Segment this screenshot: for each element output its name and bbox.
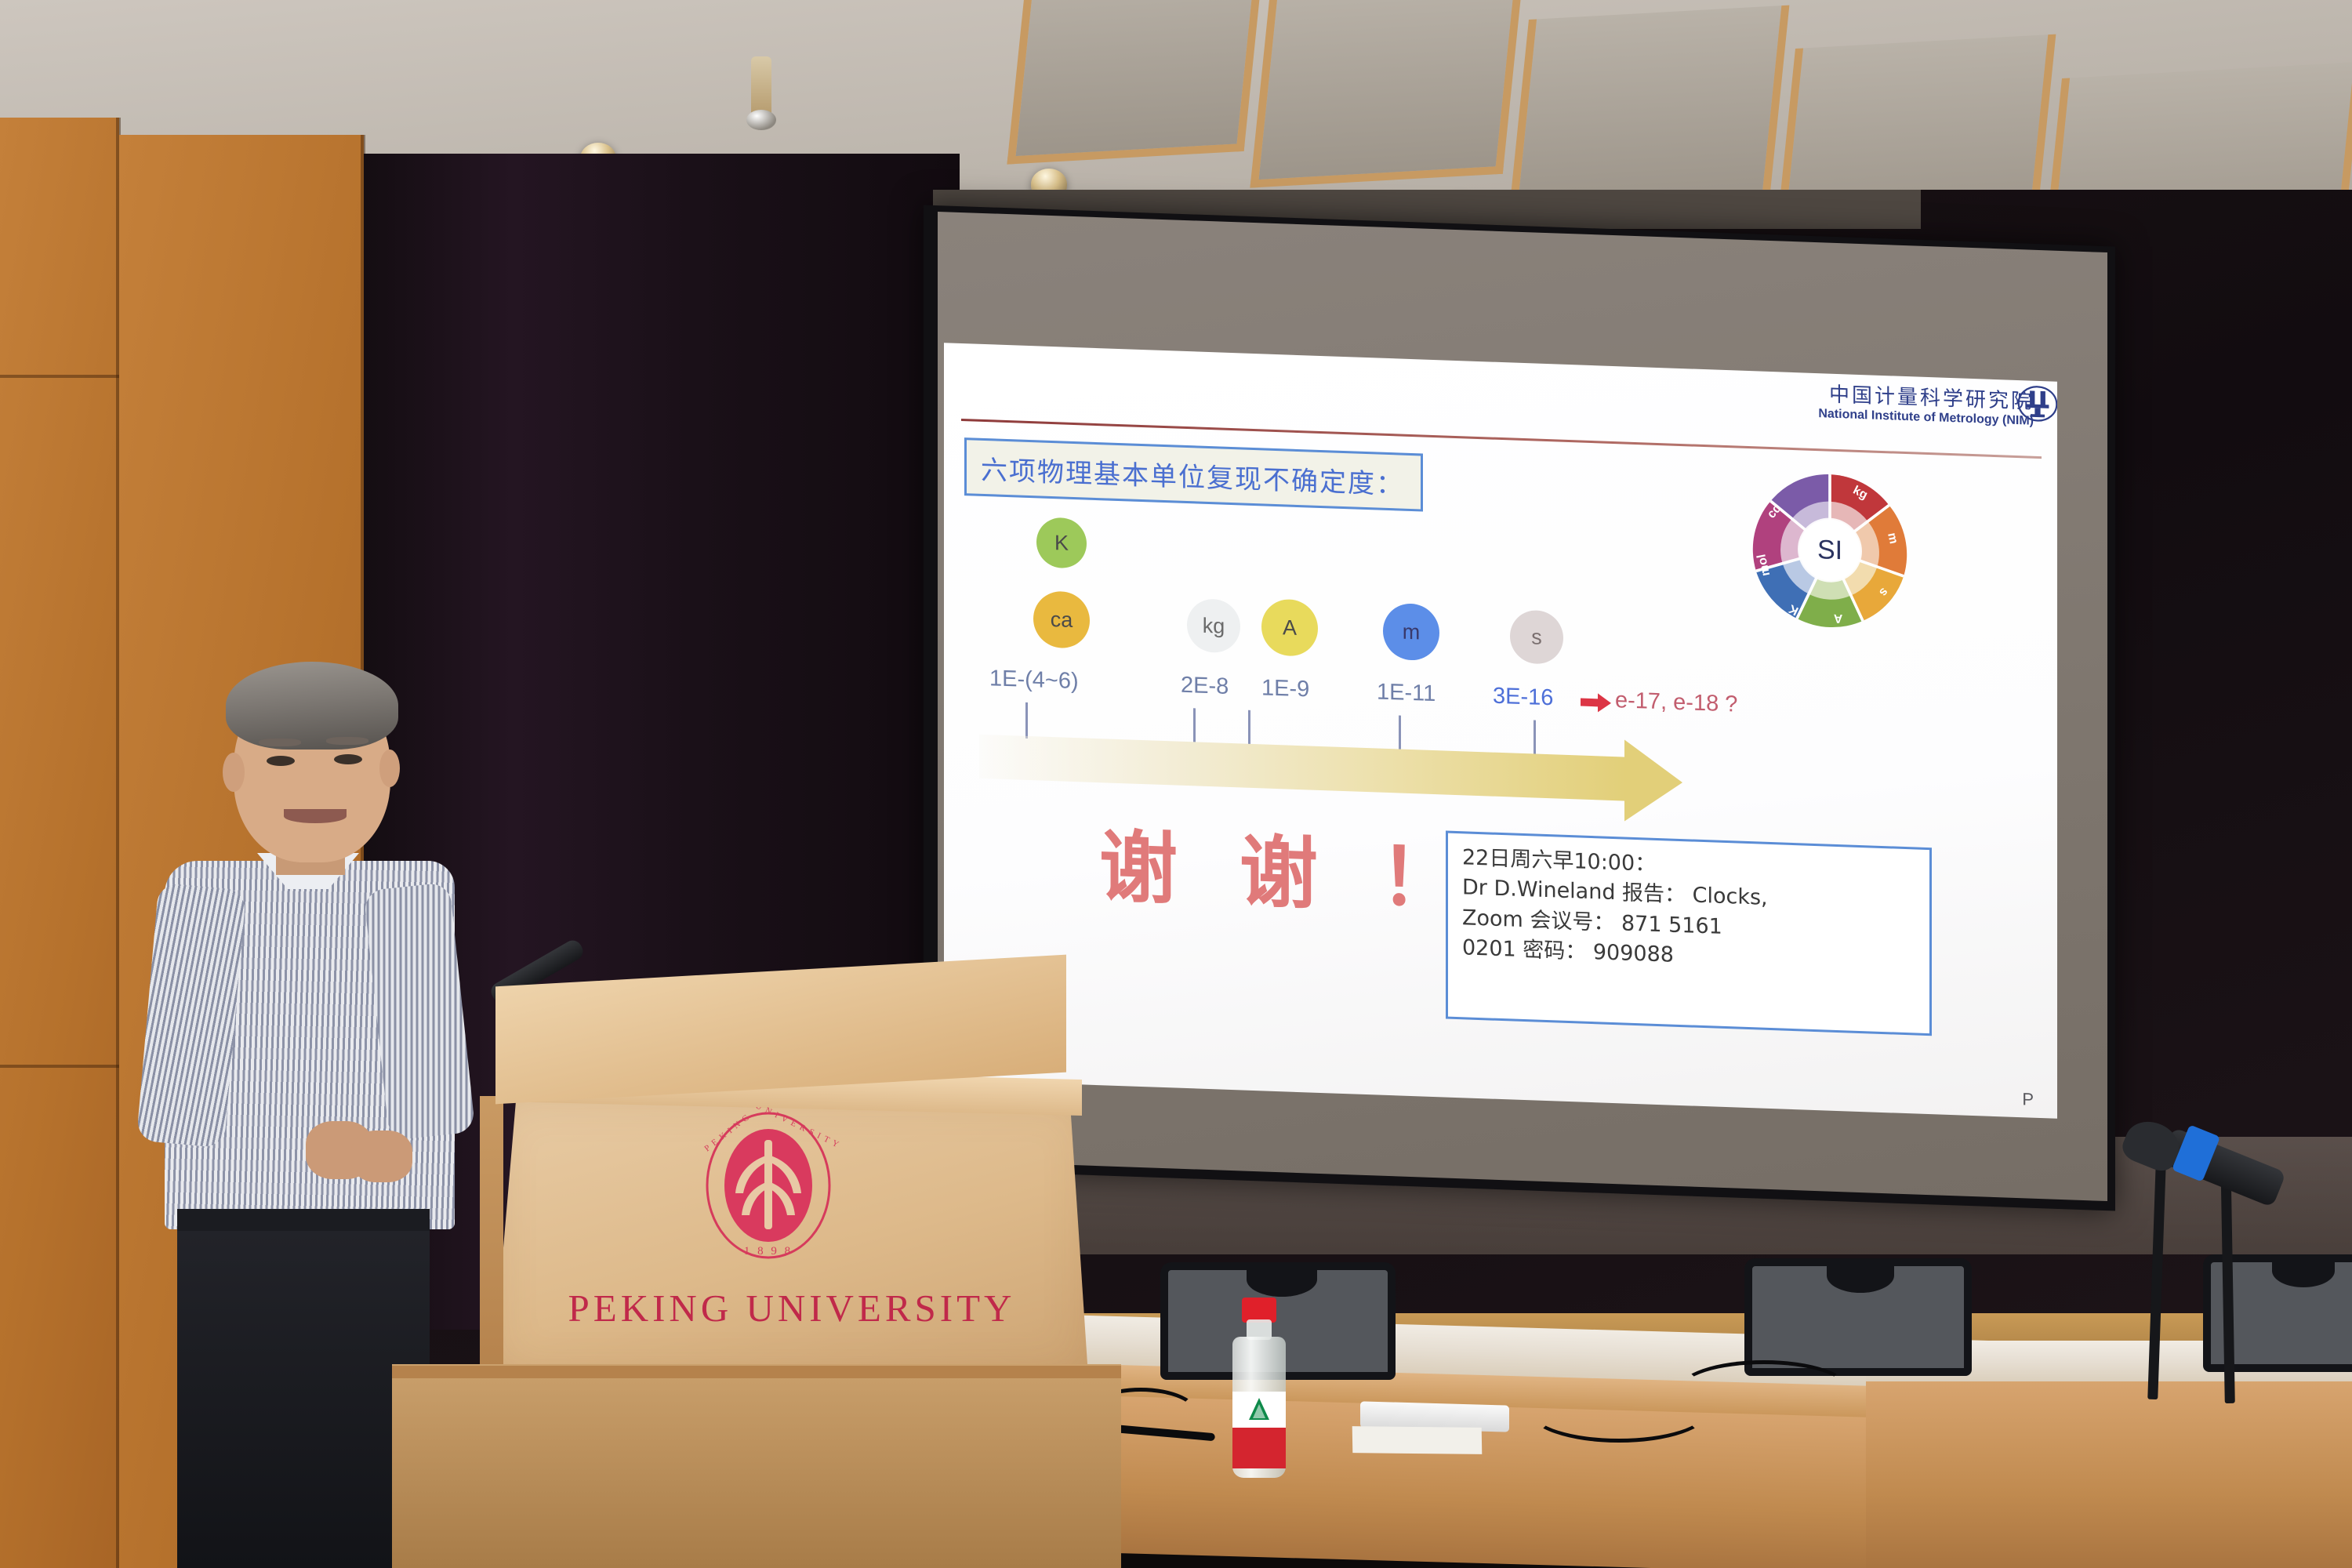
presenter-ear bbox=[223, 753, 245, 792]
slide-title-box: 六项物理基本单位复现不确定度： bbox=[964, 437, 1423, 511]
ceiling-coffer-panel bbox=[1508, 5, 1789, 216]
conference-table-front-right bbox=[1866, 1381, 2352, 1568]
announcement-box: 22日周六早10:00： Dr D.Wineland 报告： Clocks, Z… bbox=[1446, 831, 1932, 1036]
cable bbox=[1678, 1360, 1850, 1420]
peking-university-seal-icon: P E K I N G U N I V E R S I T Y 1 8 9 8 bbox=[690, 1107, 847, 1264]
podium-side bbox=[480, 1096, 503, 1378]
uncertainty-label-m: 1E-11 bbox=[1377, 679, 1436, 707]
uncertainty-label-A: 1E-9 bbox=[1261, 675, 1309, 702]
slide-title: 六项物理基本单位复现不确定度： bbox=[981, 448, 1404, 501]
uncertainty-label-s: 3E-16 bbox=[1493, 684, 1553, 712]
wall-panel-left-outer bbox=[0, 118, 119, 1568]
nim-logo-block: 中国计量科学研究院 National Institute of Metrolog… bbox=[1818, 384, 2034, 428]
bottle-logo-icon bbox=[1247, 1396, 1272, 1423]
water-bottle-icon bbox=[1228, 1298, 1290, 1478]
presentation-slide: 中国计量科学研究院 National Institute of Metrolog… bbox=[944, 343, 2057, 1119]
thanks-text: 谢 谢 ！ bbox=[1099, 828, 1475, 920]
presenter-hair bbox=[226, 662, 398, 750]
uncertainty-label-ca: 1E-(4~6) bbox=[989, 666, 1079, 695]
ceiling-sprinkler-icon bbox=[751, 56, 771, 118]
ceiling-coffer-panel bbox=[1007, 0, 1264, 165]
projection-label: e-17, e-18 ? bbox=[1615, 688, 1737, 717]
presenter-eye bbox=[334, 754, 362, 764]
podium-institution-label: PEKING UNIVERSITY bbox=[494, 1286, 1090, 1330]
podium-base bbox=[392, 1364, 1121, 1568]
unit-bubble-m: m bbox=[1383, 603, 1439, 662]
wood-seam bbox=[0, 1065, 119, 1068]
axis-tick bbox=[1399, 715, 1401, 751]
unit-bubble-kg: kg bbox=[1187, 598, 1240, 653]
svg-text:A: A bbox=[1834, 612, 1842, 625]
podium-base-lip bbox=[392, 1366, 1121, 1378]
gradient-right-arrow-head-icon bbox=[1624, 740, 1682, 824]
presenter-hand bbox=[351, 1131, 412, 1182]
nim-oval-logo-icon bbox=[2016, 382, 2057, 426]
presenter-eye bbox=[267, 756, 295, 766]
axis-tick bbox=[1193, 708, 1196, 744]
presenter-belt bbox=[177, 1209, 430, 1231]
presenter-mouth bbox=[284, 809, 347, 823]
axis-tick bbox=[1025, 702, 1028, 739]
si-wheel-diagram: kg m s A K mol cd SI bbox=[1748, 465, 1912, 635]
presenter-ear bbox=[379, 750, 400, 787]
wood-seam bbox=[0, 375, 119, 378]
paper-sheet bbox=[1352, 1426, 1483, 1454]
ceiling-coffer-panel bbox=[1250, 0, 1523, 188]
uncertainty-label-kg: 2E-8 bbox=[1181, 673, 1229, 700]
axis-tick bbox=[1534, 720, 1536, 756]
gradient-right-arrow-icon bbox=[979, 735, 1626, 801]
unit-bubble-A: A bbox=[1261, 598, 1318, 657]
slide-page-mark: P bbox=[2022, 1089, 2034, 1110]
axis-tick bbox=[1248, 710, 1250, 746]
presenter-brow bbox=[259, 739, 301, 746]
unit-bubble-K: K bbox=[1036, 517, 1087, 568]
svg-text:1 8 9 8: 1 8 9 8 bbox=[744, 1245, 793, 1258]
unit-bubble-ca: ca bbox=[1033, 590, 1090, 649]
red-right-arrow-icon bbox=[1581, 691, 1612, 714]
lecture-hall-scene: 中国计量科学研究院 National Institute of Metrolog… bbox=[0, 0, 2352, 1568]
presenter-brow bbox=[326, 737, 368, 745]
unit-bubble-s: s bbox=[1510, 609, 1563, 664]
